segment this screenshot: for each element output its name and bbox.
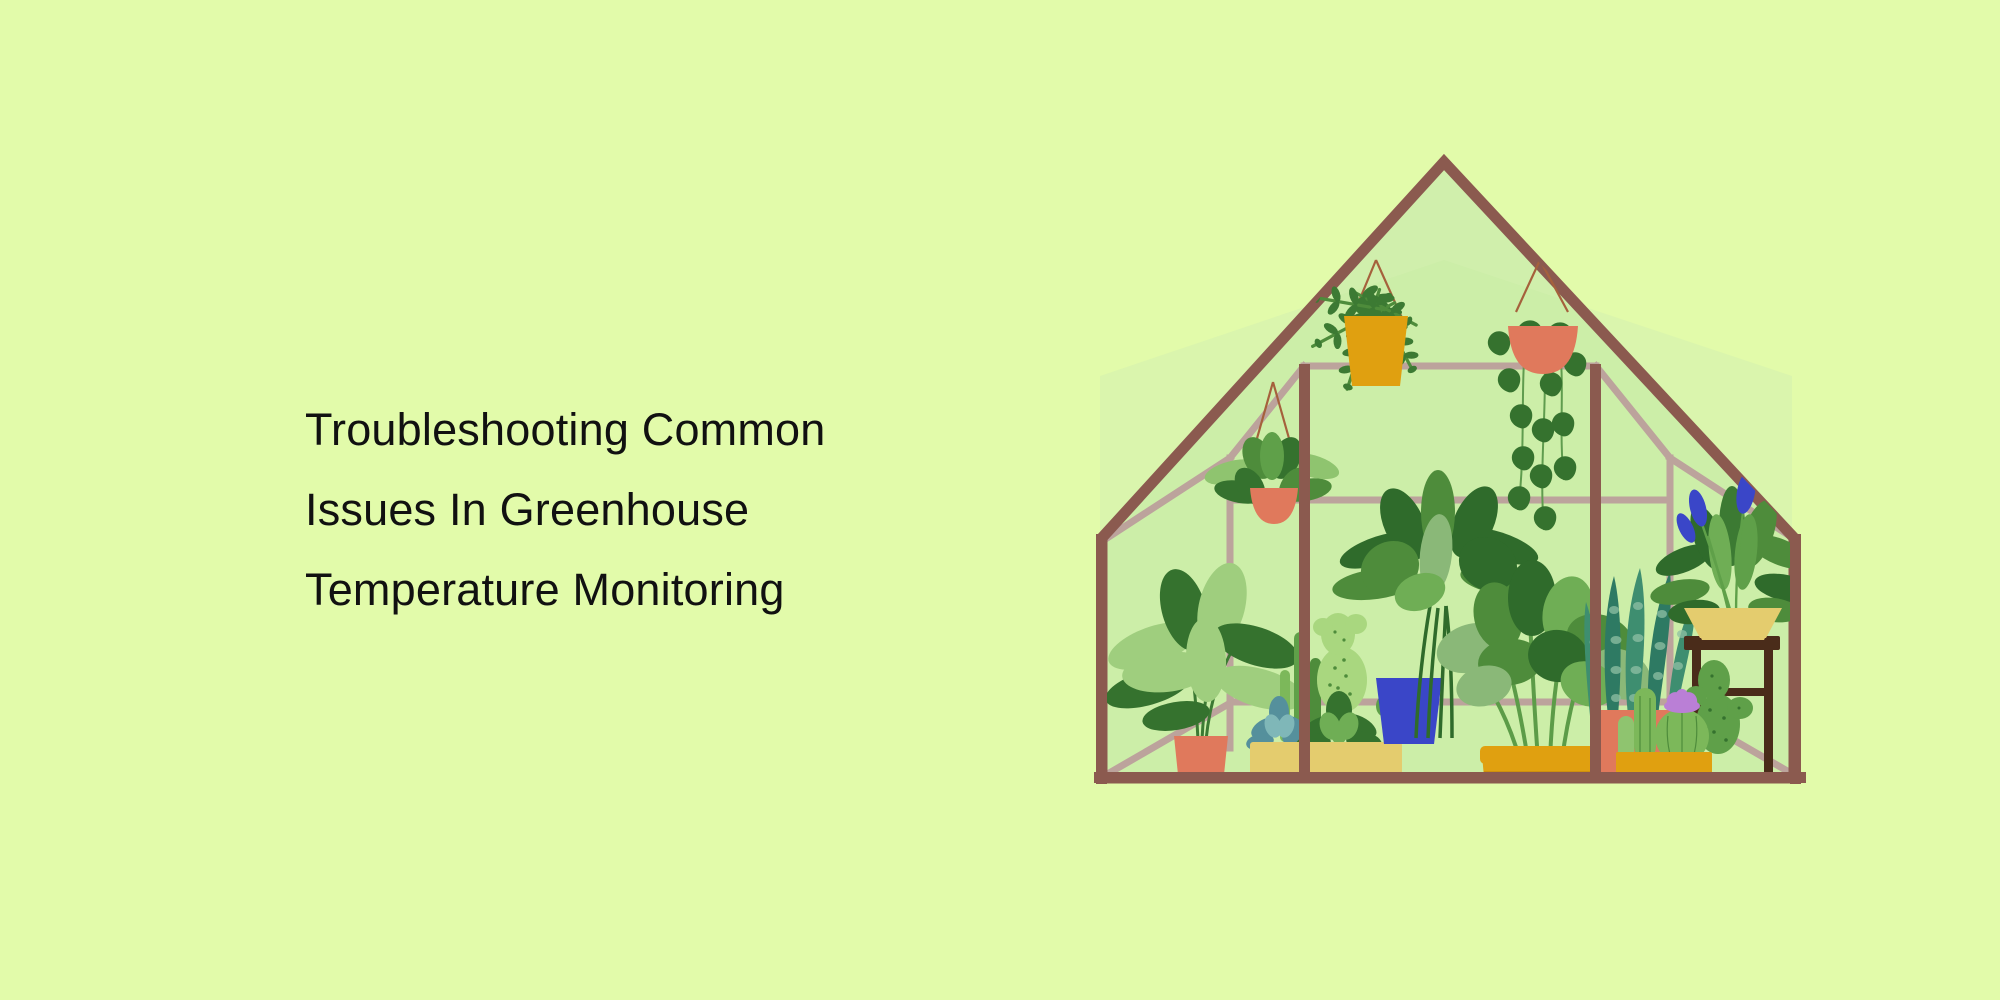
headline-line-1: Troubleshooting Common (305, 390, 1005, 470)
cactus-group-planter (1616, 752, 1712, 790)
banner-root: Troubleshooting Common Issues In Greenho… (0, 0, 2000, 1000)
hanging-fern-pot (1344, 316, 1408, 386)
headline-line-3: Temperature Monitoring (305, 550, 1005, 630)
page-title: Troubleshooting Common Issues In Greenho… (305, 390, 1005, 630)
headline-line-2: Issues In Greenhouse (305, 470, 1005, 550)
floor-left-pot (1174, 736, 1228, 794)
flowering-plant-pot (1684, 608, 1782, 638)
greenhouse-illustration (1080, 140, 1820, 820)
